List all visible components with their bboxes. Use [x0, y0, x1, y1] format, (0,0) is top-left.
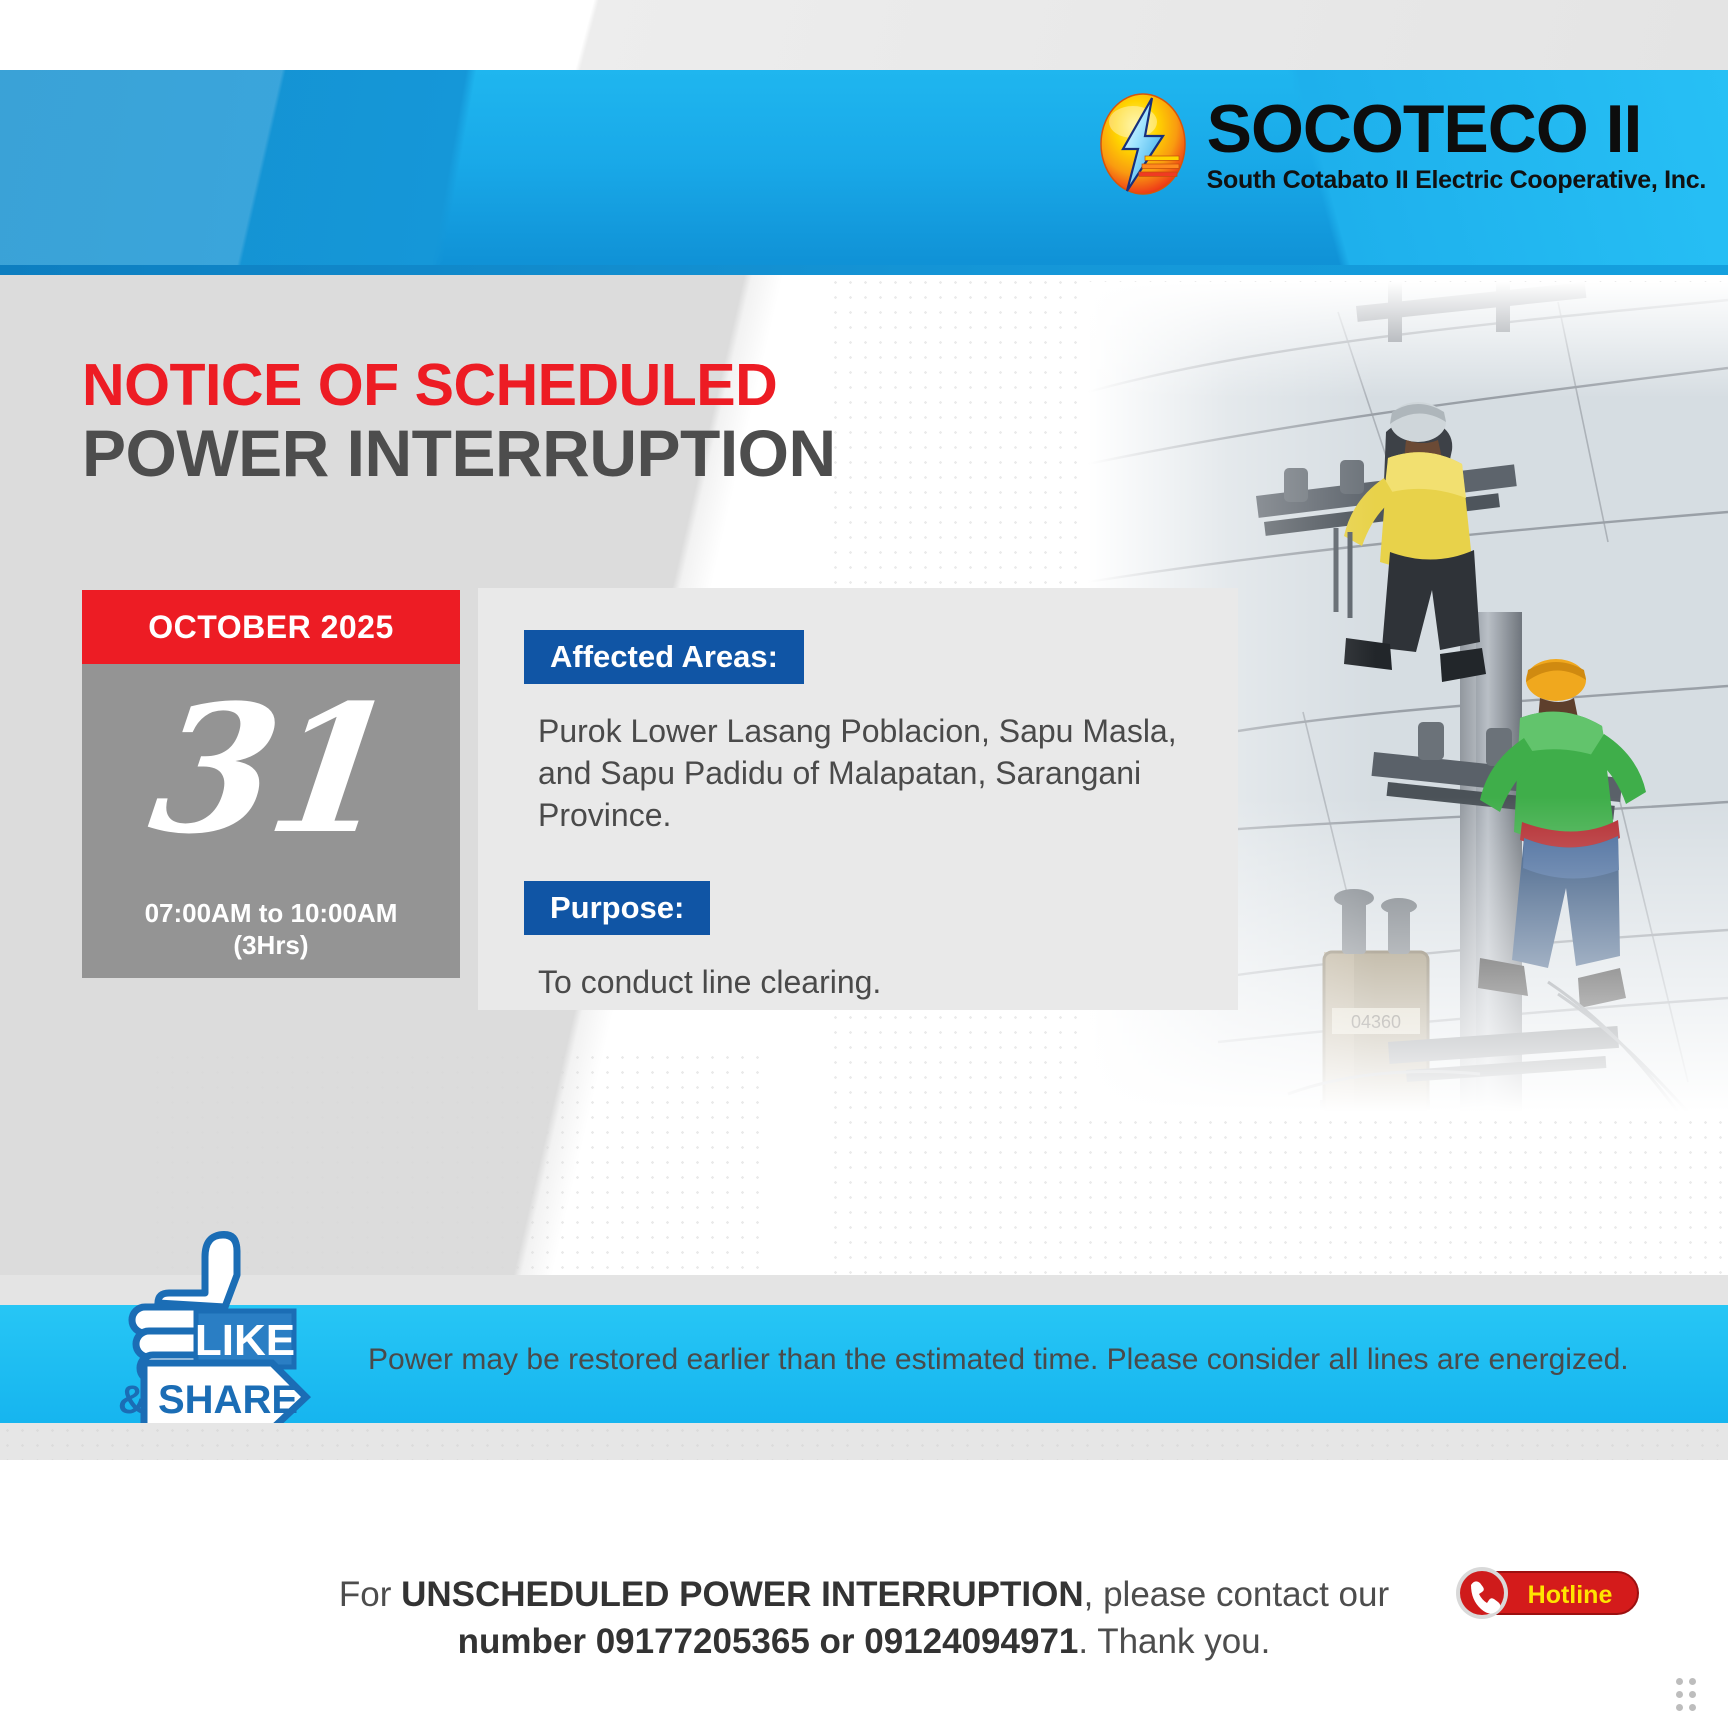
duration-text: (3Hrs) [145, 930, 398, 962]
hotline-badge[interactable]: Hotline [1452, 1566, 1642, 1620]
footer-middle: , please contact our [1084, 1575, 1389, 1614]
page-title: NOTICE OF SCHEDULED POWER INTERRUPTION [82, 355, 836, 488]
top-strip-diagonal [0, 0, 1728, 70]
restoration-notice-text: Power may be restored earlier than the e… [368, 1340, 1658, 1380]
brand-tagline: South Cotabato II Electric Cooperative, … [1207, 168, 1706, 193]
affected-areas-text: Purok Lower Lasang Poblacion, Sapu Masla… [538, 710, 1238, 837]
title-line-2: POWER INTERRUPTION [82, 419, 836, 488]
lightning-bolt-oval-logo-icon [1097, 92, 1189, 196]
date-body: 31 07:00AM to 10:00AM (3Hrs) [82, 664, 460, 978]
share-banner: & SHARE [118, 1363, 306, 1429]
footer-suffix: . Thank you. [1078, 1622, 1270, 1661]
affected-areas-label: Affected Areas: [524, 630, 804, 684]
info-inner: Affected Areas: Purok Lower Lasang Pobla… [478, 588, 1238, 1003]
kebab-dots-icon[interactable] [1676, 1678, 1710, 1712]
page-header: SOCOTECO II South Cotabato II Electric C… [0, 70, 1728, 275]
title-line-1: NOTICE OF SCHEDULED [82, 355, 836, 415]
brand-logo: SOCOTECO II South Cotabato II Electric C… [1097, 92, 1706, 196]
footer-strong-unscheduled: UNSCHEDULED POWER INTERRUPTION [401, 1575, 1084, 1614]
purpose-label: Purpose: [524, 881, 710, 935]
power-interruption-notice-poster: SOCOTECO II South Cotabato II Electric C… [0, 0, 1728, 1728]
time-range-text: 07:00AM to 10:00AM [145, 898, 398, 930]
like-banner: LIKE [195, 1311, 295, 1367]
brand-name: SOCOTECO II [1207, 95, 1642, 163]
date-time-range: 07:00AM to 10:00AM (3Hrs) [145, 898, 398, 961]
svg-text:& SHARE: & SHARE [118, 1378, 298, 1422]
brand-text: SOCOTECO II South Cotabato II Electric C… [1207, 95, 1706, 193]
svg-text:LIKE: LIKE [195, 1316, 295, 1365]
svg-text:Hotline: Hotline [1528, 1581, 1613, 1609]
like-and-share-badge[interactable]: LIKE & SHARE [110, 1215, 330, 1430]
date-day-number: 31 [142, 682, 400, 858]
info-panel: Affected Areas: Purok Lower Lasang Pobla… [478, 588, 1238, 1010]
date-card: OCTOBER 2025 31 07:00AM to 10:00AM (3Hrs… [82, 590, 460, 978]
purpose-text: To conduct line clearing. [538, 961, 1238, 1003]
date-month-label: OCTOBER 2025 [82, 590, 460, 664]
header-bottom-accent [0, 265, 1728, 275]
footer-prefix: For [339, 1575, 401, 1614]
footer-strong-numbers: number 09177205365 or 09124094971 [458, 1622, 1079, 1661]
